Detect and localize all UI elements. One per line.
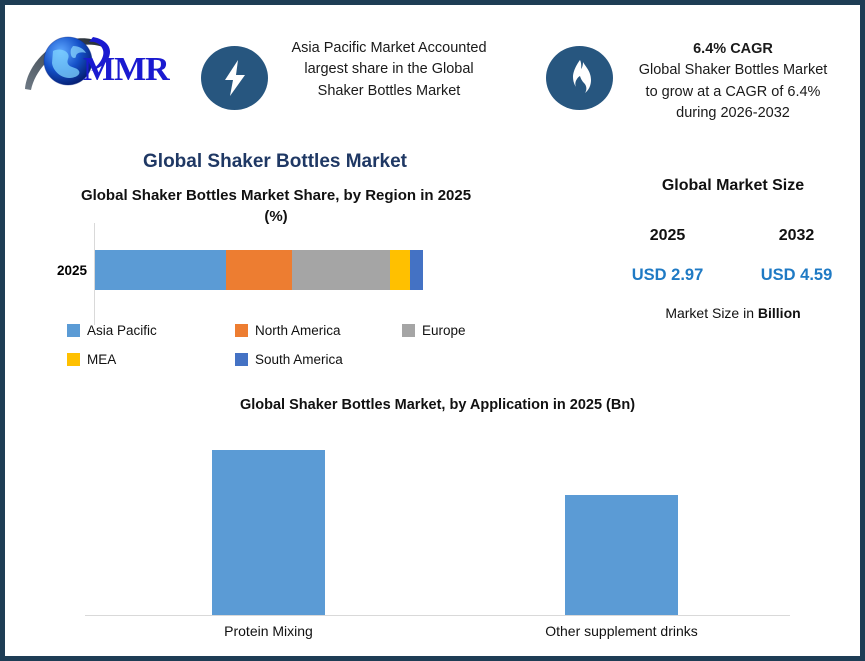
application-chart-title: Global Shaker Bottles Market, by Applica… [85,397,790,413]
application-chart-baseline [85,615,790,616]
badge-line: Asia Pacific Market Accounted [273,38,505,59]
market-size-unit-prefix: Market Size in [665,305,758,321]
legend-swatch [402,324,415,337]
badge-asia-pacific-text: Asia Pacific Market Accounted largest sh… [273,38,505,102]
region-chart-category-label: 2025 [27,263,87,278]
lightning-bolt-icon [201,46,268,110]
market-size-value: USD 2.97 [603,266,732,285]
legend-swatch [235,324,248,337]
flame-icon [546,46,613,110]
market-size-value: USD 4.59 [732,266,861,285]
legend-item-north-america[interactable]: North America [235,323,341,338]
legend-item-asia-pacific[interactable]: Asia Pacific [67,323,157,338]
stack-segment-mea [390,250,410,290]
badge-line: largest share in the Global [273,59,505,80]
legend-swatch [67,353,80,366]
application-category-label: Protein Mixing [152,623,385,639]
badge-line: Shaker Bottles Market [273,81,505,102]
application-bar [212,450,325,616]
badge-cagr-text: 6.4% CAGR Global Shaker Bottles Market t… [617,39,849,125]
market-size-column-2032: 2032 USD 4.59 [732,227,861,285]
lightning-bolt-glyph [218,58,252,98]
market-size-values: 2025 USD 2.97 2032 USD 4.59 [603,227,861,285]
region-share-chart-title: Global Shaker Bottles Market Share, by R… [71,185,481,228]
legend-item-europe[interactable]: Europe [402,323,466,338]
mmr-logo: MMR [21,27,191,99]
legend-item-mea[interactable]: MEA [67,352,116,367]
page-title: Global Shaker Bottles Market [65,151,485,173]
legend-label: Asia Pacific [87,323,157,338]
market-size-column-2025: 2025 USD 2.97 [603,227,732,285]
legend-row: Asia PacificNorth AmericaEurope [67,323,467,344]
application-chart-plot [85,430,790,616]
region-chart-legend: Asia PacificNorth AmericaEuropeMEASouth … [67,323,467,381]
logo-wordmark: MMR [83,53,169,87]
market-size-year: 2025 [603,227,732,245]
legend-label: North America [255,323,341,338]
stack-segment-south-america [410,250,423,290]
stack-segment-europe [292,250,390,290]
stack-segment-asia-pacific [95,250,226,290]
application-bar [565,495,678,616]
legend-label: MEA [87,352,116,367]
market-size-year: 2032 [732,227,861,245]
badge-line: Global Shaker Bottles Market [617,60,849,81]
badge-line: to grow at a CAGR of 6.4% [617,82,849,103]
legend-label: South America [255,352,343,367]
badge-line: during 2026-2032 [617,103,849,124]
legend-swatch [67,324,80,337]
stack-segment-north-america [226,250,292,290]
legend-swatch [235,353,248,366]
badge-heading: 6.4% CAGR [617,39,849,60]
flame-glyph [565,58,595,98]
market-size-unit-note: Market Size in Billion [608,305,858,321]
region-share-stacked-bar [95,250,423,290]
market-size-unit-strong: Billion [758,305,801,321]
legend-row: MEASouth America [67,352,467,373]
market-size-title: Global Market Size [608,177,858,195]
header: MMR Asia Pacific Market Accounted larges… [5,5,860,123]
legend-item-south-america[interactable]: South America [235,352,343,367]
legend-label: Europe [422,323,466,338]
application-category-label: Other supplement drinks [505,623,738,639]
infographic-root: MMR Asia Pacific Market Accounted larges… [0,0,865,661]
